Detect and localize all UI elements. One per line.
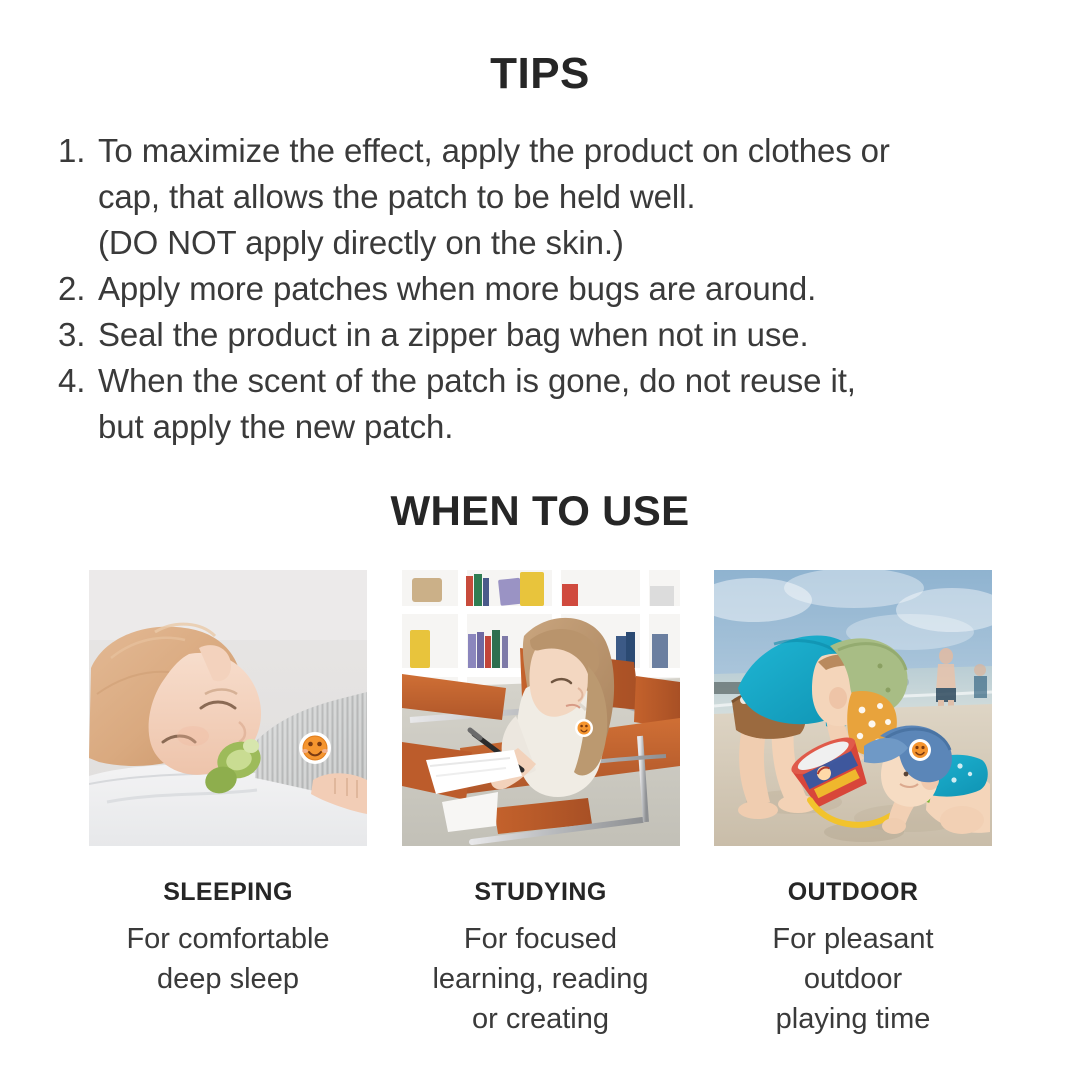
card-title-sleeping: SLEEPING: [89, 880, 367, 905]
use-case-card-sleeping: SLEEPING For comfortable deep sleep: [89, 570, 367, 1039]
tip-number: 3.: [58, 312, 98, 358]
tip-text: Seal the product in a zipper bag when no…: [98, 312, 1018, 358]
use-case-cards: SLEEPING For comfortable deep sleep: [89, 570, 992, 1039]
use-case-card-studying: STUDYING For focused learning, reading o…: [402, 570, 680, 1039]
tip-text: Apply more patches when more bugs are ar…: [98, 266, 1018, 312]
when-to-use-heading: WHEN TO USE: [0, 490, 1080, 532]
card-description-outdoor: For pleasant outdoor playing time: [714, 919, 992, 1039]
card-desc-line: deep sleep: [89, 959, 367, 999]
outdoor-children-illustration: [714, 570, 992, 846]
tip-text: To maximize the effect, apply the produc…: [98, 128, 1018, 266]
infographic-page: TIPS 1. To maximize the effect, apply th…: [0, 0, 1080, 1080]
card-desc-line: For focused: [402, 919, 680, 959]
card-desc-line: playing time: [714, 999, 992, 1039]
card-title-outdoor: OUTDOOR: [714, 880, 992, 905]
outdoor-children-photo: [714, 570, 992, 846]
studying-child-photo: [402, 570, 680, 846]
card-desc-line: outdoor: [714, 959, 992, 999]
card-description-sleeping: For comfortable deep sleep: [89, 919, 367, 999]
sleeping-child-illustration: [89, 570, 367, 846]
card-title-studying: STUDYING: [402, 880, 680, 905]
tip-line: When the scent of the patch is gone, do …: [98, 358, 1018, 404]
tip-text: When the scent of the patch is gone, do …: [98, 358, 1018, 450]
tip-number: 1.: [58, 128, 98, 174]
use-case-card-outdoor: OUTDOOR For pleasant outdoor playing tim…: [714, 570, 992, 1039]
tip-number: 2.: [58, 266, 98, 312]
smiley-patch-icon: [299, 732, 331, 764]
card-desc-line: For comfortable: [89, 919, 367, 959]
tips-heading: TIPS: [0, 52, 1080, 96]
tip-line: cap, that allows the patch to be held we…: [98, 174, 1018, 220]
card-desc-line: learning, reading: [402, 959, 680, 999]
card-desc-line: For pleasant: [714, 919, 992, 959]
tip-item: 3. Seal the product in a zipper bag when…: [58, 312, 1018, 358]
sleeping-child-photo: [89, 570, 367, 846]
card-description-studying: For focused learning, reading or creatin…: [402, 919, 680, 1039]
tip-item: 2. Apply more patches when more bugs are…: [58, 266, 1018, 312]
studying-child-illustration: [402, 570, 680, 846]
tip-item: 4. When the scent of the patch is gone, …: [58, 358, 1018, 450]
tip-line: To maximize the effect, apply the produc…: [98, 128, 1018, 174]
smiley-patch-icon: [909, 739, 931, 761]
card-desc-line: or creating: [402, 999, 680, 1039]
tip-line: (DO NOT apply directly on the skin.): [98, 220, 1018, 266]
tip-item: 1. To maximize the effect, apply the pro…: [58, 128, 1018, 266]
smiley-patch-icon: [575, 719, 593, 737]
tip-number: 4.: [58, 358, 98, 404]
tip-line: Seal the product in a zipper bag when no…: [98, 312, 1018, 358]
tip-line: but apply the new patch.: [98, 404, 1018, 450]
tips-list: 1. To maximize the effect, apply the pro…: [58, 128, 1018, 450]
tip-line: Apply more patches when more bugs are ar…: [98, 266, 1018, 312]
